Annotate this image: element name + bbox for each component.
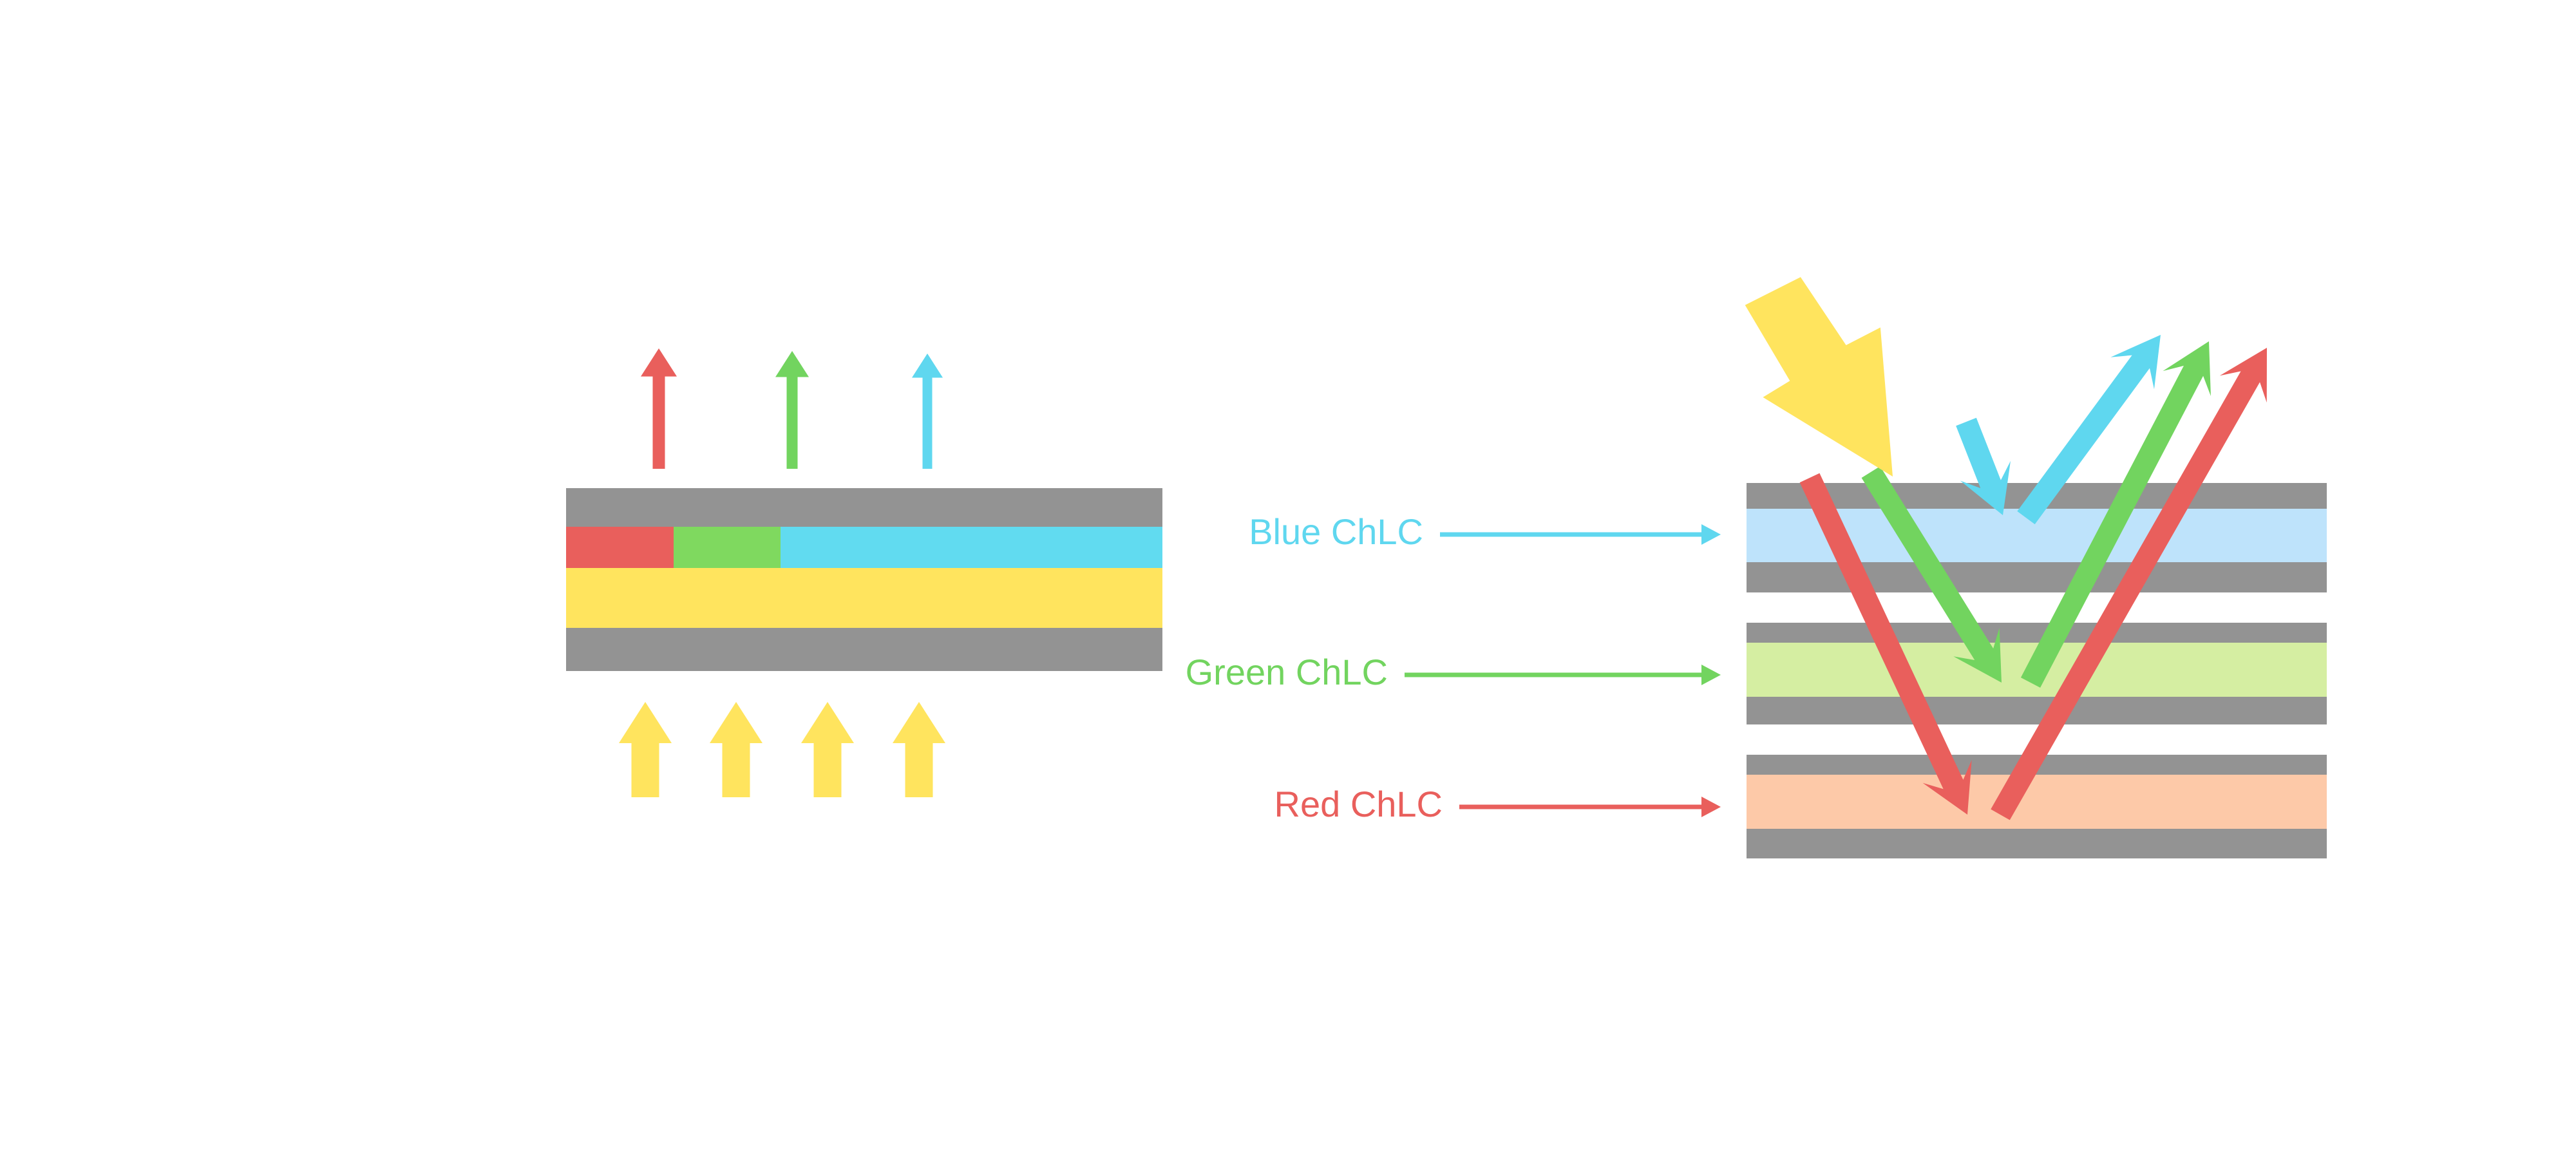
- green-segment: [674, 527, 781, 568]
- yellow-incident-light-arrow: [1745, 277, 1893, 477]
- red-chlc-cell-label-arrow-head: [1701, 797, 1721, 817]
- blue-output-arrow: [912, 354, 943, 469]
- red-output-arrow: [641, 348, 677, 469]
- blue-segment: [781, 527, 1162, 568]
- green-chlc-cell-top-electrode: [1747, 623, 2327, 643]
- blue-chlc-cell-bottom-electrode: [1747, 562, 2327, 592]
- illumination-arrow-3: [801, 702, 854, 797]
- red-chlc-cell-label: Red ChLC: [1274, 784, 1443, 824]
- green-chlc-cell-label-arrow-head: [1701, 665, 1721, 685]
- green-output-arrow: [775, 351, 809, 469]
- green-chlc-cell-bottom-electrode: [1747, 697, 2327, 724]
- bottom-electrode: [566, 628, 1162, 671]
- blue-chlc-cell-label-arrow-head: [1701, 524, 1721, 545]
- illumination-arrow-1: [619, 702, 672, 797]
- green-chlc-cell-label: Green ChLC: [1186, 652, 1388, 692]
- chlc-diagram-svg: Blue ChLCGreen ChLCRed ChLC: [0, 0, 2576, 1154]
- yellow-backlight: [566, 568, 1162, 628]
- red-chlc-cell-body: [1747, 775, 2327, 829]
- illumination-arrow-2: [710, 702, 762, 797]
- diagram-canvas: Blue ChLCGreen ChLCRed ChLC: [0, 0, 2576, 1154]
- red-segment: [566, 527, 674, 568]
- red-chlc-cell-bottom-electrode: [1747, 829, 2327, 858]
- illumination-arrow-4: [893, 702, 945, 797]
- top-electrode: [566, 488, 1162, 527]
- blue-chlc-cell-label: Blue ChLC: [1249, 511, 1423, 552]
